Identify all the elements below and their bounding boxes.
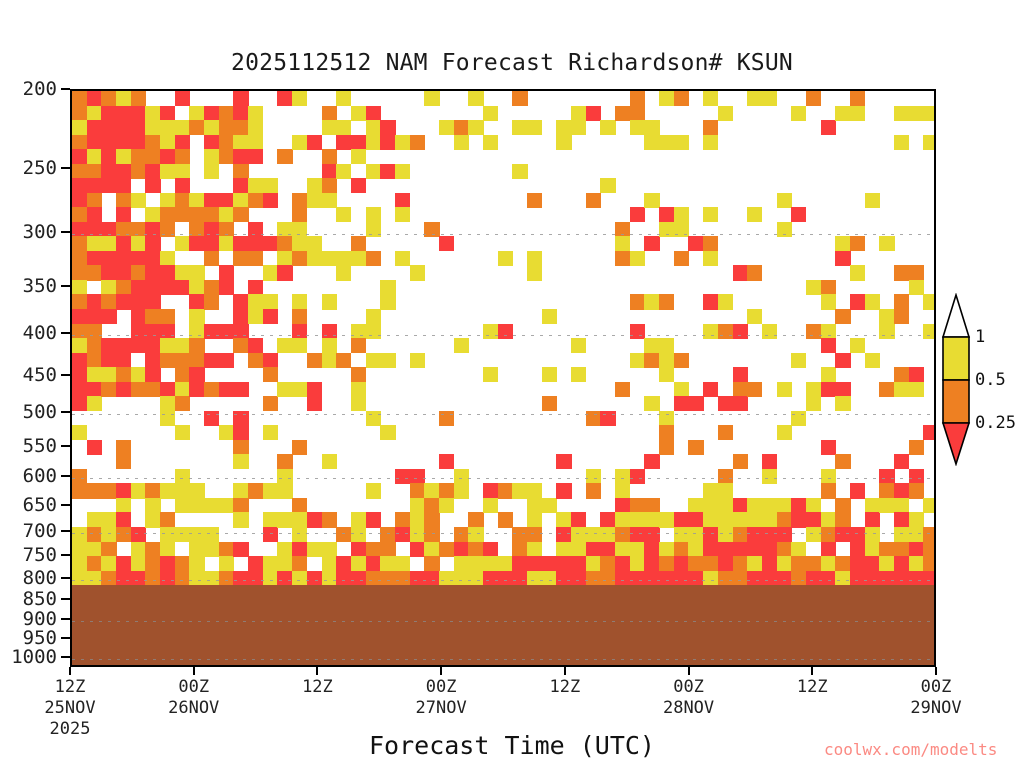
x-tick-date: 28NOV — [629, 698, 749, 719]
x-tick-time: 12Z — [10, 677, 130, 698]
y-tick-label-550: 550 — [0, 435, 57, 457]
x-tick-mark-84 — [935, 667, 937, 675]
y-tick-label-850: 850 — [0, 588, 57, 610]
y-tick-label-450: 450 — [0, 364, 57, 386]
colorbar-label-0.5: 0.5 — [975, 370, 1006, 390]
x-tick-date: 26NOV — [134, 698, 254, 719]
y-tick-mark-450 — [61, 374, 70, 376]
terrain-fill — [72, 585, 934, 667]
y-tick-mark-300 — [61, 231, 70, 233]
x-tick-mark-36 — [440, 667, 442, 675]
y-tick-label-700: 700 — [0, 520, 57, 542]
terrain-gridline-1000 — [72, 659, 934, 660]
x-tick-mark-48 — [564, 667, 566, 675]
x-tick-mark-60 — [688, 667, 690, 675]
y-tick-label-1000: 1000 — [0, 646, 57, 668]
y-tick-mark-200 — [61, 88, 70, 90]
y-tick-label-300: 300 — [0, 221, 57, 243]
x-tick-label-72: 12Z — [752, 677, 872, 698]
terrain-region — [72, 91, 934, 665]
colorbar-label-1: 1 — [975, 327, 985, 347]
page-title: 2025112512 NAM Forecast Richardson# KSUN — [0, 50, 1024, 76]
plot-area — [70, 89, 936, 667]
x-tick-date: 27NOV — [381, 698, 501, 719]
x-tick-time: 00Z — [629, 677, 749, 698]
x-tick-label-48: 12Z — [505, 677, 625, 698]
x-tick-label-60: 00Z28NOV — [629, 677, 749, 719]
chart-canvas: 2025112512 NAM Forecast Richardson# KSUN… — [0, 0, 1024, 768]
y-tick-mark-350 — [61, 285, 70, 287]
x-tick-label-12: 00Z26NOV — [134, 677, 254, 719]
y-tick-mark-900 — [61, 618, 70, 620]
x-tick-date: 25NOV — [10, 698, 130, 719]
y-tick-label-650: 650 — [0, 494, 57, 516]
y-tick-mark-500 — [61, 411, 70, 413]
terrain-gridline-900 — [72, 621, 934, 622]
y-tick-label-350: 350 — [0, 275, 57, 297]
x-tick-date: 29NOV — [876, 698, 996, 719]
y-tick-mark-800 — [61, 577, 70, 579]
y-tick-label-800: 800 — [0, 567, 57, 589]
y-tick-mark-600 — [61, 475, 70, 477]
x-tick-time: 12Z — [257, 677, 377, 698]
x-tick-label-84: 00Z29NOV — [876, 677, 996, 719]
colorbar-band-yellow — [943, 337, 969, 380]
y-tick-mark-400 — [61, 332, 70, 334]
y-tick-mark-950 — [61, 637, 70, 639]
colorbar-band-orange — [943, 380, 969, 423]
y-tick-mark-700 — [61, 530, 70, 532]
y-tick-mark-650 — [61, 504, 70, 506]
y-tick-label-500: 500 — [0, 401, 57, 423]
y-tick-label-400: 400 — [0, 322, 57, 344]
x-tick-time: 00Z — [381, 677, 501, 698]
colorbar-label-0.25: 0.25 — [975, 413, 1016, 433]
y-tick-label-600: 600 — [0, 465, 57, 487]
colorbar — [941, 293, 971, 466]
y-tick-mark-1000 — [61, 656, 70, 658]
colorbar-swatches — [941, 293, 971, 466]
x-tick-mark-0 — [69, 667, 71, 675]
colorbar-arrow-up — [943, 295, 969, 337]
watermark: coolwx.com/modelts — [824, 740, 997, 759]
x-tick-mark-12 — [193, 667, 195, 675]
colorbar-arrow-down — [943, 423, 969, 464]
y-tick-mark-550 — [61, 445, 70, 447]
y-tick-label-250: 250 — [0, 157, 57, 179]
y-tick-mark-250 — [61, 167, 70, 169]
x-tick-time: 00Z — [876, 677, 996, 698]
x-tick-time: 00Z — [134, 677, 254, 698]
y-tick-mark-750 — [61, 554, 70, 556]
y-tick-mark-850 — [61, 598, 70, 600]
x-tick-label-36: 00Z27NOV — [381, 677, 501, 719]
x-tick-label-24: 12Z — [257, 677, 377, 698]
x-tick-time: 12Z — [505, 677, 625, 698]
x-tick-time: 12Z — [752, 677, 872, 698]
y-tick-label-200: 200 — [0, 78, 57, 100]
x-tick-mark-72 — [811, 667, 813, 675]
x-tick-mark-24 — [316, 667, 318, 675]
y-tick-label-750: 750 — [0, 544, 57, 566]
